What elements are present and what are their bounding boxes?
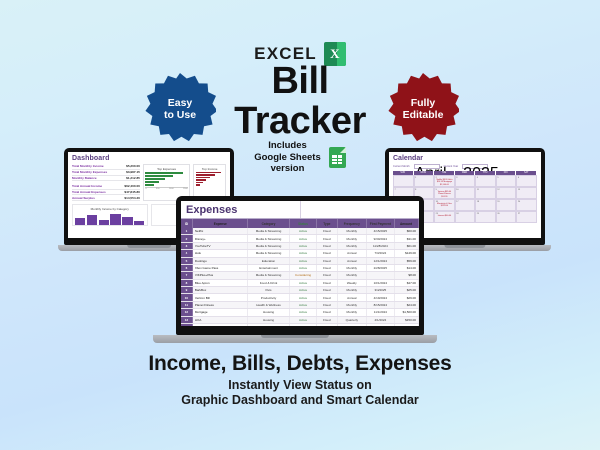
badge-left-line-1: Easy <box>164 97 196 109</box>
calendar-cell[interactable]: 16Electricity & Gas $125.00 <box>434 199 455 211</box>
row-index: 2 <box>181 235 193 241</box>
footer-sub-1: Instantly View Status on <box>0 378 600 393</box>
row-frequency: Quarterly <box>338 317 367 323</box>
panel1-bar <box>122 217 132 225</box>
calendar-cell-day: 8 <box>415 189 433 191</box>
includes-line-1: Includes <box>254 140 321 152</box>
row-index: 1 <box>181 228 193 234</box>
chart1-title: Top Expenses <box>145 167 187 171</box>
row-type: Fixed <box>317 317 338 323</box>
calendar-cell[interactable]: 13 <box>516 187 537 199</box>
row-index: 11 <box>181 302 193 308</box>
calendar-cell-day: 7 <box>395 189 413 191</box>
row-amount: $125.00 <box>395 324 419 326</box>
row-status: Active <box>290 258 316 264</box>
footer-headline: Income, Bills, Debts, Expenses <box>0 352 600 376</box>
table-row[interactable]: 3YouTubeTVMedia & StreamingActiveFixedMo… <box>181 243 419 250</box>
expenses-column-header[interactable]: Expense <box>193 219 248 228</box>
calendar-month-select[interactable]: April <box>414 164 440 169</box>
includes-line-2: Google Sheets <box>254 152 321 164</box>
chart2-bar <box>196 179 207 181</box>
table-row[interactable]: 4HuluMedia & StreamingActiveFixedAnnual7… <box>181 250 419 257</box>
row-type: Fixed <box>317 228 338 234</box>
calendar-cell[interactable]: 24 <box>455 211 476 223</box>
row-first-payment: 11/1/2024 <box>367 324 396 326</box>
calendar-cell-day: 4 <box>477 177 495 179</box>
calendar-cell[interactable]: 2Netflix $8.99 Hulu $14.99 Mortgage $1,5… <box>434 175 455 187</box>
row-type: Fixed <box>317 250 338 256</box>
calendar-cell[interactable]: 19 <box>496 199 517 211</box>
chart2-bar <box>196 177 210 179</box>
row-status: Active <box>290 317 316 323</box>
table-row[interactable]: 12MortgageHousingActiveFixedMonthly11/1/… <box>181 309 419 316</box>
row-expense: VIKPlus+Plus <box>193 272 248 278</box>
row-first-payment: 9/30/2024 <box>367 235 396 241</box>
panel1-bar <box>99 220 109 225</box>
table-row[interactable]: 14Electricity & GasUtilitiesActiveVariab… <box>181 324 419 326</box>
row-expense: Netflix <box>193 228 248 234</box>
row-first-payment: 2/28/2025 <box>367 265 396 271</box>
calendar-cell[interactable]: 25 <box>475 211 496 223</box>
row-amount: $14.00 <box>395 265 419 271</box>
row-type: Fixed <box>317 265 338 271</box>
calendar-cell-day: 18 <box>477 201 495 203</box>
row-expense: Planet Fitness <box>193 302 248 308</box>
table-row[interactable]: 11Planet FitnessHealth & WellnessActiveF… <box>181 302 419 309</box>
row-type: Fixed <box>317 272 338 278</box>
row-status: Active <box>290 228 316 234</box>
calendar-cell[interactable]: 9Verizon $85.00 Planet Fitness $24.99 <box>434 187 455 199</box>
chart2-bar <box>196 182 203 184</box>
row-index: 9 <box>181 287 193 293</box>
calendar-cell[interactable]: 18 <box>475 199 496 211</box>
row-index: 10 <box>181 294 193 300</box>
row-type: Fixed <box>317 287 338 293</box>
row-type: Fixed <box>317 258 338 264</box>
row-frequency: Monthly <box>338 309 367 315</box>
row-status: Considering <box>290 272 316 278</box>
row-category: Housing <box>248 309 291 315</box>
row-expense: Hulu <box>193 250 248 256</box>
stat-label: Total Annual Income <box>72 184 102 188</box>
chart1-bar <box>145 172 182 174</box>
row-expense: Blue Apron <box>193 280 248 286</box>
expenses-column-header[interactable]: ID <box>181 219 193 228</box>
row-type: Fixed <box>317 294 338 300</box>
row-category: Media & Streaming <box>248 243 291 249</box>
calendar-cell[interactable] <box>393 175 414 187</box>
row-status: Active <box>290 250 316 256</box>
row-amount: $60.00 <box>395 228 419 234</box>
row-category: Pets <box>248 287 291 293</box>
dashboard-title: Dashboard <box>72 155 226 162</box>
expenses-column-header[interactable]: First Payment <box>367 219 396 228</box>
calendar-cell-day: 10 <box>456 189 474 191</box>
row-status: Active <box>290 243 316 249</box>
calendar-cell[interactable]: 5 <box>496 175 517 187</box>
calendar-cell[interactable]: 26 <box>496 211 517 223</box>
calendar-cell-day: 24 <box>456 213 474 215</box>
title-line-1: Bill <box>271 60 328 102</box>
row-status: Active <box>290 265 316 271</box>
table-row[interactable]: 1NetflixMedia & StreamingActiveFixedMont… <box>181 228 419 235</box>
calendar-month-label: Current Month <box>393 165 410 168</box>
row-category: Entertainment <box>248 265 291 271</box>
row-category: Education <box>248 258 291 264</box>
row-category: Food & Drink <box>248 280 291 286</box>
panel1-bar <box>110 214 120 226</box>
row-status: Active <box>290 302 316 308</box>
row-expense: Duolingo <box>193 258 248 264</box>
expenses-column-header[interactable]: Frequency <box>338 219 367 228</box>
row-type: Fixed <box>317 243 338 249</box>
row-first-payment: 4/15/2025 <box>367 228 396 234</box>
expenses-column-header[interactable]: Amount <box>395 219 419 228</box>
chart2-bars <box>196 172 224 187</box>
panel1-title: Monthly Income by Category <box>75 207 145 211</box>
stat-label: Annual Surplus <box>72 196 95 200</box>
dashboard-income-by-category: Monthly Income by Category <box>72 204 148 226</box>
row-amount: $1,500.00 <box>395 309 419 315</box>
expenses-column-header[interactable]: Status <box>290 219 316 228</box>
chart1-tick: 0 <box>145 188 146 190</box>
laptop-lid-center: Expenses IDExpenseCategoryStatusTypeFreq… <box>176 196 424 335</box>
row-first-payment: 4/1/2024 <box>367 317 396 323</box>
table-row[interactable]: 2Disney+Media & StreamingActiveFixedMont… <box>181 235 419 242</box>
chart1-tick: 1500 <box>183 188 188 190</box>
excel-icon-letter: X <box>330 46 339 62</box>
google-sheets-icon <box>329 147 346 168</box>
row-amount: $8.00 <box>395 272 419 278</box>
row-category: Utilities <box>248 324 291 326</box>
calendar-cell-day: 1 <box>415 177 433 179</box>
expenses-column-header[interactable]: Category <box>248 219 291 228</box>
calendar-cell-day: 17 <box>456 201 474 203</box>
calendar-cell[interactable]: 27 <box>516 211 537 223</box>
calendar-cell-day: 25 <box>477 213 495 215</box>
dashboard-stats: Total Monthly Income$5,200.00Total Month… <box>72 164 140 201</box>
chart1-bar <box>145 181 159 183</box>
panel1-bars <box>75 212 145 225</box>
expenses-column-header[interactable]: Type <box>317 219 338 228</box>
row-amount: $61.00 <box>395 243 419 249</box>
calendar-cell-day: 26 <box>497 213 515 215</box>
row-status: Active <box>290 280 316 286</box>
row-amount: $47.00 <box>395 280 419 286</box>
panel1-bar <box>134 221 144 226</box>
row-expense: YouTubeTV <box>193 243 248 249</box>
row-category: Housing <box>248 317 291 323</box>
table-row[interactable]: 6Xbox Game PassEntertainmentActiveFixedM… <box>181 265 419 272</box>
stat-value: $1,212.85 <box>126 176 140 180</box>
row-expense: Verizon Bill <box>193 294 248 300</box>
footer-subtext: Instantly View Status on Graphic Dashboa… <box>0 378 600 408</box>
chart1-bar <box>145 178 165 180</box>
calendar-year-label: Current Year <box>444 165 459 168</box>
stat-value: $3,987.15 <box>126 170 140 174</box>
row-amount: $149.00 <box>395 250 419 256</box>
row-frequency: Monthly <box>338 228 367 234</box>
table-row[interactable]: 7VIKPlus+PlusMedia & StreamingConsiderin… <box>181 272 419 279</box>
row-index: 6 <box>181 265 193 271</box>
row-status: Active <box>290 324 316 326</box>
calendar-controls: Current Month April Current Year 2025 <box>393 164 537 169</box>
row-index: 12 <box>181 309 193 315</box>
calendar-cell-day: 5 <box>497 177 515 179</box>
row-amount: $24.00 <box>395 302 419 308</box>
stat-value: $47,845.80 <box>124 190 139 194</box>
table-row[interactable]: 9BarkBoxPetsActiveFixedMonthly3/4/2025$2… <box>181 287 419 294</box>
row-expense: HOA <box>193 317 248 323</box>
expenses-header: Expenses <box>181 201 419 219</box>
laptop-expenses: Expenses IDExpenseCategoryStatusTypeFreq… <box>176 196 424 343</box>
chart2-title: Top Income <box>196 167 224 171</box>
calendar-cell[interactable]: 20 <box>516 199 537 211</box>
calendar-cell[interactable]: 4 <box>475 175 496 187</box>
panel1-bar <box>87 215 97 225</box>
table-row[interactable]: 8Blue ApronFood & DrinkActiveFixedWeekly… <box>181 280 419 287</box>
stat-label: Total Annual Expenses <box>72 190 106 194</box>
stat-label: Total Monthly Expenses <box>72 170 107 174</box>
chart1-axis: 050010001500 <box>145 187 187 190</box>
footer-sub-2: Graphic Dashboard and Smart Calendar <box>0 393 600 408</box>
row-category: Media & Streaming <box>248 250 291 256</box>
row-frequency: Annual <box>338 294 367 300</box>
row-amount: $150.00 <box>395 317 419 323</box>
stat-label: Monthly Balance <box>72 176 97 180</box>
row-expense: BarkBox <box>193 287 248 293</box>
row-first-payment: 11/1/2024 <box>367 309 396 315</box>
calendar-cell[interactable]: 23Internet $60.00 <box>434 211 455 223</box>
chart1-tick: 500 <box>156 188 160 190</box>
row-amount: $29.00 <box>395 294 419 300</box>
expenses-title: Expenses <box>181 201 300 218</box>
expenses-column-headers: IDExpenseCategoryStatusTypeFrequencyFirs… <box>181 219 419 228</box>
row-frequency: Monthly <box>338 243 367 249</box>
row-frequency: Annual <box>338 258 367 264</box>
row-first-payment <box>367 272 396 278</box>
calendar-cell[interactable]: 17 <box>455 199 476 211</box>
row-type: Fixed <box>317 280 338 286</box>
stat-value: $62,400.00 <box>124 184 139 188</box>
chart1-bar <box>145 184 154 186</box>
row-frequency: Weekly <box>338 280 367 286</box>
row-index: 5 <box>181 258 193 264</box>
calendar-cell-day: 11 <box>477 189 495 191</box>
calendar-cell[interactable]: 11 <box>475 187 496 199</box>
includes-line-3: version <box>254 163 321 175</box>
google-sheets-grid <box>332 155 342 164</box>
row-first-payment: 3/4/2025 <box>367 287 396 293</box>
expenses-sheet: Expenses IDExpenseCategoryStatusTypeFreq… <box>181 201 419 326</box>
row-first-payment: 11/28/2024 <box>367 243 396 249</box>
row-frequency: Monthly <box>338 302 367 308</box>
chart1-bars <box>145 172 187 186</box>
row-expense: Mortgage <box>193 309 248 315</box>
calendar-cell[interactable]: 6 <box>516 175 537 187</box>
calendar-cell[interactable]: 10 <box>455 187 476 199</box>
chart1-bar <box>145 175 172 177</box>
row-index: 14 <box>181 324 193 326</box>
row-type: Fixed <box>317 235 338 241</box>
calendar-cell-note: Electricity & Gas $125.00 <box>436 203 454 208</box>
chart2-bar <box>196 172 221 174</box>
calendar-title: Calendar <box>393 155 537 162</box>
chart2-bar <box>196 184 200 186</box>
calendar-cell[interactable]: 3 <box>455 175 476 187</box>
panel1-bar <box>75 218 85 225</box>
row-type: Variable <box>317 324 338 326</box>
calendar-year-select[interactable]: 2025 <box>462 164 488 169</box>
table-row[interactable]: 5DuolingoEducationActiveFixedAnnual12/1/… <box>181 258 419 265</box>
calendar-cell-note: Verizon $85.00 Planet Fitness $24.99 <box>436 191 454 198</box>
stat-row: Annual Surplus$14,554.20 <box>72 195 140 201</box>
calendar-cell-day: 19 <box>497 201 515 203</box>
row-type: Fixed <box>317 309 338 315</box>
calendar-cell-day: 3 <box>456 177 474 179</box>
row-frequency: Monthly <box>338 324 367 326</box>
laptop-base-center <box>153 335 437 343</box>
calendar-cell-note: Internet $60.00 <box>436 215 454 217</box>
row-status: Active <box>290 309 316 315</box>
calendar-cell-note: Netflix $8.99 Hulu $14.99 Mortgage $1,50… <box>436 179 454 186</box>
row-frequency: Monthly <box>338 265 367 271</box>
row-index: 3 <box>181 243 193 249</box>
row-amount: $25.00 <box>395 287 419 293</box>
row-category: Productivity <box>248 294 291 300</box>
row-frequency: Monthly <box>338 287 367 293</box>
page-title: Bill Tracker <box>0 62 600 140</box>
title-line-2: Tracker <box>0 102 600 140</box>
row-first-payment: 10/1/2024 <box>367 280 396 286</box>
row-status: Active <box>290 287 316 293</box>
row-amount: $59.00 <box>395 258 419 264</box>
row-amount: $31.00 <box>395 235 419 241</box>
chart2-bar <box>196 174 215 176</box>
calendar-cell-day: 20 <box>518 201 536 203</box>
stat-label: Total Monthly Income <box>72 164 104 168</box>
calendar-cell[interactable]: 1 <box>414 175 435 187</box>
row-category: Health & Wellness <box>248 302 291 308</box>
row-expense: Xbox Game Pass <box>193 265 248 271</box>
row-expense: Electricity & Gas <box>193 324 248 326</box>
row-index: 7 <box>181 272 193 278</box>
badge-left-line-2: to Use <box>164 109 196 121</box>
calendar-cell-day: 6 <box>518 177 536 179</box>
expenses-rows: 1NetflixMedia & StreamingActiveFixedMont… <box>181 228 419 326</box>
calendar-cell-day: 27 <box>518 213 536 215</box>
expenses-header-right <box>300 201 419 218</box>
row-frequency: Monthly <box>338 235 367 241</box>
includes-text: Includes Google Sheets version <box>254 140 321 175</box>
row-category: Media & Streaming <box>248 228 291 234</box>
row-status: Active <box>290 235 316 241</box>
stat-value: $5,200.00 <box>126 164 140 168</box>
stat-value: $14,554.20 <box>124 196 139 200</box>
row-first-payment: 12/1/2024 <box>367 258 396 264</box>
row-category: Media & Streaming <box>248 235 291 241</box>
row-type: Fixed <box>317 302 338 308</box>
table-row[interactable]: 10Verizon BillProductivityActiveFixedAnn… <box>181 294 419 301</box>
expenses-screen: Expenses IDExpenseCategoryStatusTypeFreq… <box>181 201 419 326</box>
calendar-cell-day: 12 <box>497 189 515 191</box>
row-frequency: Annual <box>338 250 367 256</box>
row-index: 13 <box>181 317 193 323</box>
row-status: Active <box>290 294 316 300</box>
row-category: Media & Streaming <box>248 272 291 278</box>
calendar-cell[interactable]: 12 <box>496 187 517 199</box>
row-first-payment: 4/19/2024 <box>367 294 396 300</box>
table-row[interactable]: 13HOAHousingActiveFixedQuarterly4/1/2024… <box>181 317 419 324</box>
promo-graphic: EXCEL X Bill Tracker Includes Google She… <box>0 0 600 450</box>
badge-right-line-2: Editable <box>403 109 444 121</box>
row-index: 8 <box>181 280 193 286</box>
row-index: 4 <box>181 250 193 256</box>
row-first-payment: 7/3/2024 <box>367 250 396 256</box>
calendar-cell-day: 13 <box>518 189 536 191</box>
row-expense: Disney+ <box>193 235 248 241</box>
chart1-tick: 1000 <box>169 188 174 190</box>
row-first-payment: 8/15/2024 <box>367 302 396 308</box>
badge-right-line-1: Fully <box>403 97 444 109</box>
row-frequency: Monthly <box>338 272 367 278</box>
